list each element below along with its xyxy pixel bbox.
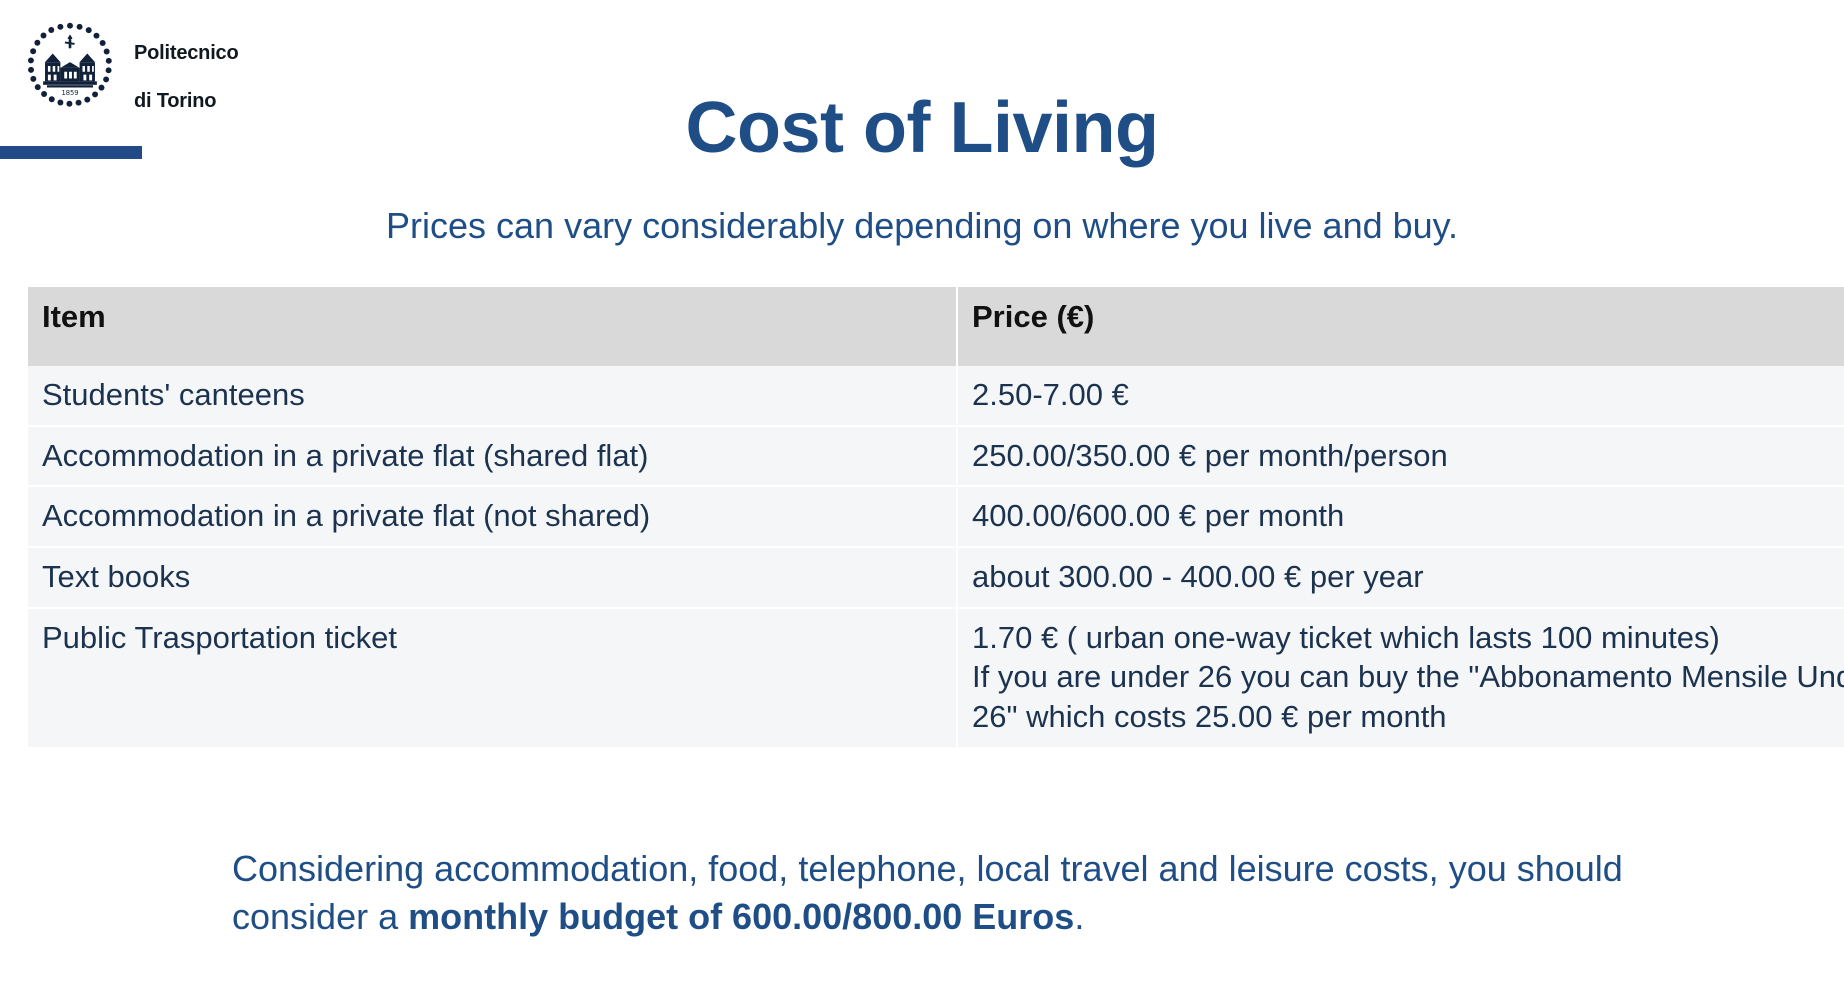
- column-header-item: Item: [28, 287, 957, 366]
- price-line: about 300.00 - 400.00 € per year: [972, 557, 1844, 597]
- price-line: 2.50-7.00 €: [972, 375, 1844, 415]
- price-line: 400.00/600.00 € per month: [972, 496, 1844, 536]
- price-line: 250.00/350.00 € per month/person: [972, 436, 1844, 476]
- price-line: 1.70 € ( urban one-way ticket which last…: [972, 618, 1844, 658]
- table-row: Accommodation in a private flat (shared …: [28, 426, 1844, 487]
- cell-item: Text books: [28, 547, 957, 608]
- budget-summary-note: Considering accommodation, food, telepho…: [232, 845, 1652, 941]
- table-row: Text books about 300.00 - 400.00 € per y…: [28, 547, 1844, 608]
- cell-price: about 300.00 - 400.00 € per year: [957, 547, 1844, 608]
- table-header-row: Item Price (€): [28, 287, 1844, 366]
- cell-price: 1.70 € ( urban one-way ticket which last…: [957, 608, 1844, 747]
- cost-of-living-table: Item Price (€) Students' canteens 2.50-7…: [28, 287, 1844, 747]
- table-row: Public Trasportation ticket 1.70 € ( urb…: [28, 608, 1844, 747]
- price-line: If you are under 26 you can buy the "Abb…: [972, 657, 1844, 736]
- page-title: Cost of Living: [0, 92, 1844, 164]
- brand-name-line1: Politecnico: [134, 42, 239, 64]
- cell-item: Students' canteens: [28, 366, 957, 426]
- table-header: Item Price (€): [28, 287, 1844, 366]
- budget-note-period: .: [1074, 896, 1084, 937]
- table-row: Accommodation in a private flat (not sha…: [28, 486, 1844, 547]
- table-row: Students' canteens 2.50-7.00 €: [28, 366, 1844, 426]
- table-body: Students' canteens 2.50-7.00 € Accommoda…: [28, 366, 1844, 747]
- cell-item: Public Trasportation ticket: [28, 608, 957, 747]
- cell-item: Accommodation in a private flat (not sha…: [28, 486, 957, 547]
- page-subtitle: Prices can vary considerably depending o…: [0, 206, 1844, 246]
- cell-price: 400.00/600.00 € per month: [957, 486, 1844, 547]
- cell-item: Accommodation in a private flat (shared …: [28, 426, 957, 487]
- cell-price: 250.00/350.00 € per month/person: [957, 426, 1844, 487]
- cell-price: 2.50-7.00 €: [957, 366, 1844, 426]
- budget-note-highlight: monthly budget of 600.00/800.00 Euros: [408, 896, 1074, 937]
- column-header-price: Price (€): [957, 287, 1844, 366]
